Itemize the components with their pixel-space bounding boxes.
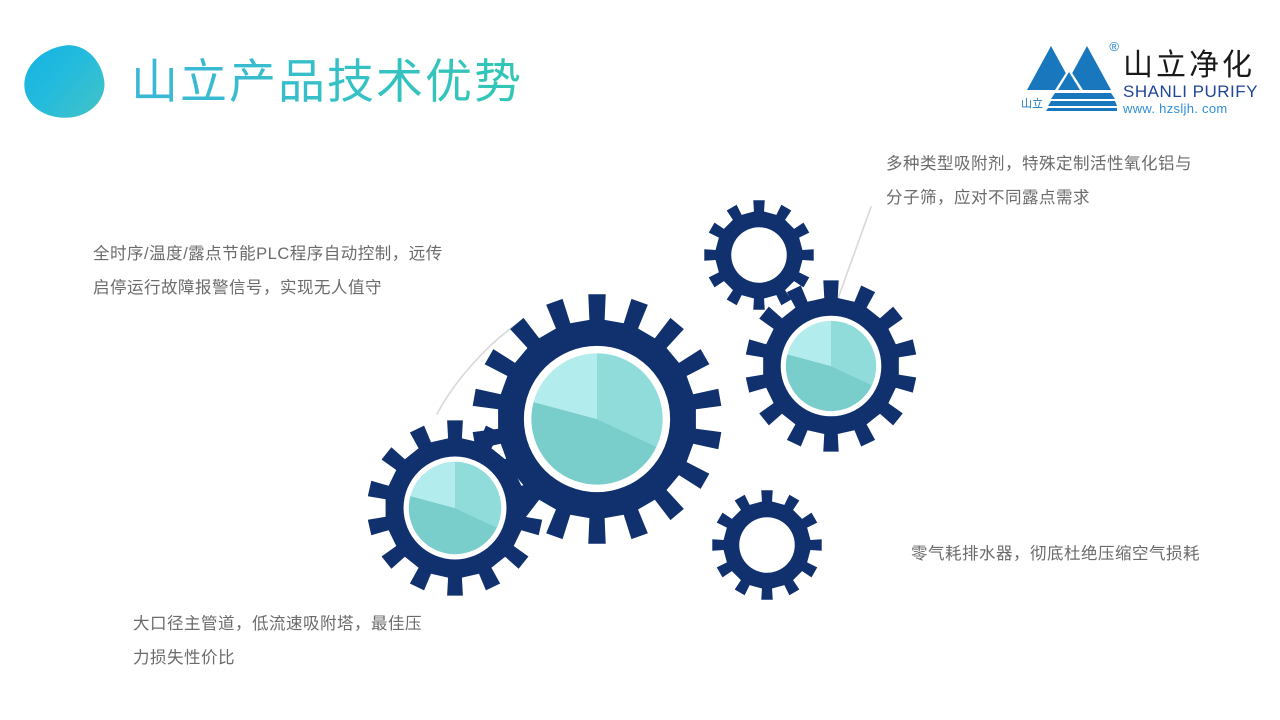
- gear-right: [746, 280, 916, 451]
- slide-canvas: 山立产品技术优势 ® 山立 山立净化 SHANLI PURIFY www. hz…: [0, 0, 1280, 720]
- gear-bottom-small-hollow-hub: [739, 517, 795, 573]
- callout-plc-control: 全时序/温度/露点节能PLC程序自动控制，远传启停运行故障报警信号，实现无人值守: [93, 238, 443, 306]
- callout-large-pipe: 大口径主管道，低流速吸附塔，最佳压力损失性价比: [133, 608, 433, 676]
- callout-adsorbent-types: 多种类型吸附剂，特殊定制活性氧化铝与分子筛，应对不同露点需求: [886, 148, 1206, 216]
- gear-top-small-hollow-hub: [731, 227, 787, 283]
- gear-bottom-small: [712, 490, 821, 599]
- gear-layer: [368, 200, 916, 599]
- callout-zero-air-loss-drain: 零气耗排水器，彻底杜绝压缩空气损耗: [911, 538, 1226, 572]
